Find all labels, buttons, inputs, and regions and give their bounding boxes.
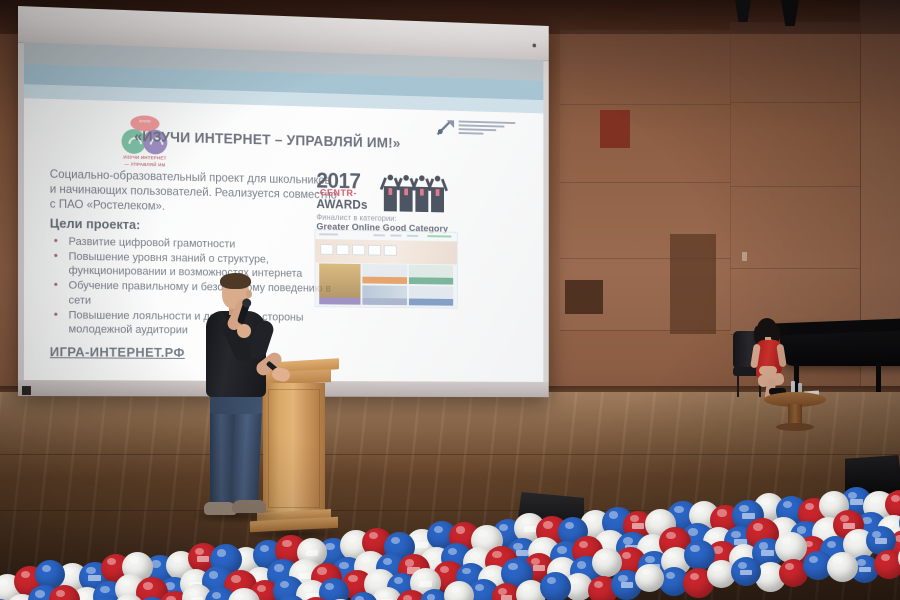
wall-panel xyxy=(560,104,731,183)
screenshot-tile xyxy=(362,264,407,284)
screenshot-tile xyxy=(409,286,453,306)
balloon-garland xyxy=(0,446,900,600)
auditorium-photo: WWW ИЗУЧИ ИНТЕРНЕТ — УПРАВЛЯЙ ИМ xyxy=(0,0,900,600)
wall-panel xyxy=(730,102,861,187)
screen-weight-bar-end xyxy=(22,386,31,395)
wall-panel xyxy=(560,30,731,105)
balloon xyxy=(540,572,571,600)
centr-awards-badge: 2017 -CENTR- AWARDs Финалист в категории… xyxy=(316,169,465,235)
balloon xyxy=(874,550,900,579)
logo-oval-text: WWW xyxy=(130,118,159,124)
slide-lead-text: Социально-образовательный проект для шко… xyxy=(50,167,339,218)
logo-caption: ИЗУЧИ ИНТЕРНЕТ — УПРАВЛЯЙ ИМ xyxy=(113,154,177,169)
wall-doorway xyxy=(670,234,716,334)
screenshot-tile xyxy=(362,285,407,305)
screenshot-tile xyxy=(409,265,453,285)
awards-word: AWARDs xyxy=(316,197,367,212)
table-foot xyxy=(776,423,814,431)
presenter-hair xyxy=(220,273,251,289)
presenter-hand-right xyxy=(271,366,292,383)
slide-title: «ИЗУЧИ ИНТЕРНЕТ – УПРАВЛЯЙ ИМ!» xyxy=(134,129,446,153)
wall-panel xyxy=(730,186,861,269)
balloon xyxy=(319,578,349,600)
website-screenshot-thumbnail xyxy=(315,229,458,308)
presenter-hand-left xyxy=(237,324,251,338)
wall-accent-red xyxy=(600,110,630,148)
partner-logo-text xyxy=(459,121,516,138)
partner-logo xyxy=(436,116,520,143)
roller-screw-icon xyxy=(532,44,536,48)
wall-accent-dark xyxy=(565,280,603,314)
arrow-icon xyxy=(436,119,456,137)
balloon xyxy=(827,552,858,582)
screenshot-counter-boxes xyxy=(320,244,397,256)
wall-switch xyxy=(742,252,747,261)
slide-goals-heading: Цели проекта: xyxy=(50,215,339,237)
wall-panel xyxy=(730,22,861,103)
screenshot-tile xyxy=(319,263,360,304)
oval-table xyxy=(764,392,826,430)
presenter-ear xyxy=(246,290,252,298)
piano-leg xyxy=(876,362,881,392)
grand-piano xyxy=(780,326,900,366)
chair-leg xyxy=(737,375,739,397)
cheering-figures-icon xyxy=(384,169,460,213)
seated-woman xyxy=(750,318,794,396)
